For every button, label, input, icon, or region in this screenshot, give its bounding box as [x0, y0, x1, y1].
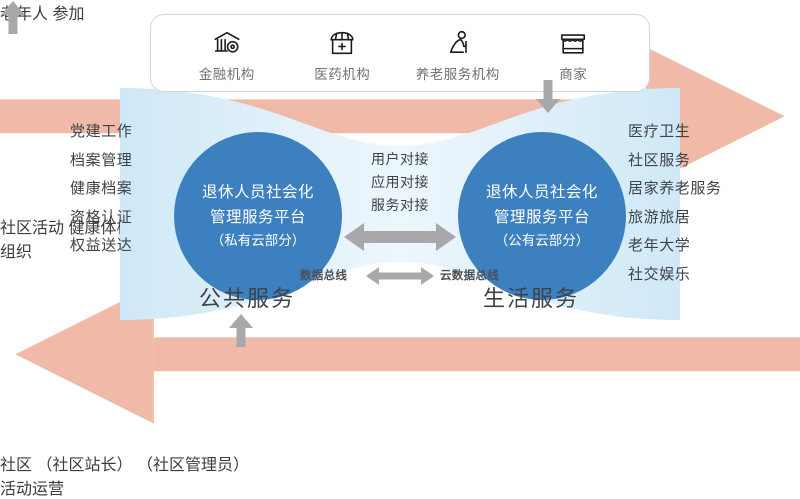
arrow-up-to-public-service-icon [228, 313, 254, 347]
community-title: 社区 [0, 457, 32, 474]
bidirectional-integration-arrow-icon [344, 220, 456, 254]
arrow-up-to-life-service-icon [0, 0, 26, 34]
right-capability-list: 医疗卫生 社区服务 居家养老服务 旅游旅居 老年大学 社交娱乐 [628, 118, 722, 289]
organize-arrow-icon [0, 262, 800, 447]
right-list-item: 社交娱乐 [628, 261, 722, 290]
partner-label: 商家 [559, 63, 587, 83]
shop-icon [558, 24, 588, 58]
partner-label: 养老服务机构 [416, 63, 500, 83]
partner-item-pharmacy[interactable]: 医药机构 [285, 24, 401, 83]
data-bus-label-left: 数据总线 [300, 267, 347, 283]
community-block: 社区 （社区站长） （社区管理员） [0, 451, 800, 475]
left-list-item: 权益送达 [70, 232, 132, 261]
integration-label: 应用对接 [338, 171, 462, 194]
circle-line-3: （私有云部分） [211, 230, 306, 252]
right-list-item: 居家养老服务 [628, 175, 722, 204]
left-list-item: 健康档案 [70, 175, 132, 204]
activity-item[interactable]: 社区活动 [0, 220, 64, 237]
pharmacy-icon [327, 24, 357, 58]
bidirectional-data-bus-arrow-icon [366, 265, 434, 287]
left-list-item: 档案管理 [70, 147, 132, 176]
integration-label: 服务对接 [338, 194, 462, 217]
life-service-title: 生活服务 [483, 281, 579, 313]
partner-item-elderly-care[interactable]: 养老服务机构 [400, 24, 516, 83]
left-capability-list: 党建工作 档案管理 健康档案 资格认证 权益送达 [70, 118, 132, 261]
circle-line-3: （公有云部分） [495, 230, 590, 252]
arrow-down-to-public-cloud-icon [535, 80, 561, 114]
circle-line-1: 退休人员社会化 [486, 180, 598, 205]
public-service-title: 公共服务 [199, 281, 295, 313]
organize-label: 组织 [0, 244, 32, 261]
elderly-care-icon [443, 24, 473, 58]
participate-label: 参加 [52, 6, 84, 23]
circle-line-2: 管理服务平台 [210, 205, 306, 230]
right-list-item: 旅游旅居 [628, 204, 722, 233]
circle-line-2: 管理服务平台 [494, 205, 590, 230]
diagram-canvas: 金融机构 医药机构 [0, 0, 800, 464]
partner-label: 医药机构 [314, 63, 370, 83]
bank-icon [212, 24, 242, 58]
right-list-item: 社区服务 [628, 147, 722, 176]
right-list-item: 老年大学 [628, 232, 722, 261]
integration-label-group: 用户对接 应用对接 服务对接 [338, 148, 462, 217]
partner-panel: 金融机构 医药机构 [150, 14, 650, 92]
footer-title: 活动运营 [0, 475, 800, 499]
left-list-item: 资格认证 [70, 204, 132, 233]
circle-line-1: 退休人员社会化 [202, 180, 314, 205]
partner-item-financial[interactable]: 金融机构 [169, 24, 285, 83]
partner-item-merchant[interactable]: 商家 [516, 24, 632, 83]
partner-label: 金融机构 [199, 63, 255, 83]
community-sub-role-1: （社区站长） [36, 457, 132, 474]
right-list-item: 医疗卫生 [628, 118, 722, 147]
left-list-item: 党建工作 [70, 118, 132, 147]
integration-label: 用户对接 [338, 148, 462, 171]
community-sub-role-2: （社区管理员） [137, 457, 249, 474]
